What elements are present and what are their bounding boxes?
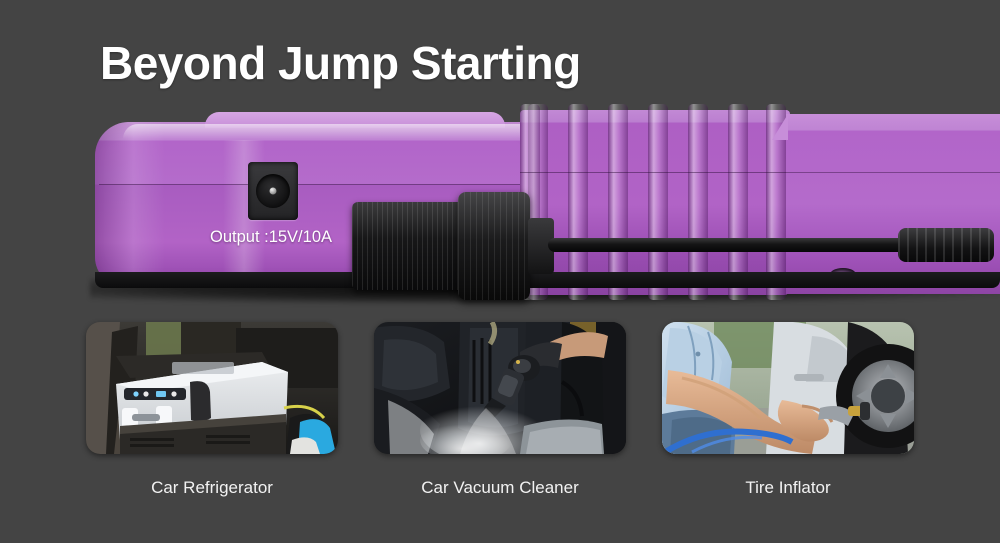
tire-inflator-photo xyxy=(662,322,914,454)
product-body-right xyxy=(786,114,1000,294)
cable-strain-relief xyxy=(898,228,994,262)
car-refrigerator-photo xyxy=(86,322,338,454)
product-rib xyxy=(608,104,628,300)
product-feature-banner: Beyond Jump Starting Ou xyxy=(0,0,1000,543)
use-case-card: Car Vacuum Cleaner xyxy=(374,322,626,498)
page-title: Beyond Jump Starting xyxy=(100,36,581,90)
dc-connector-collar xyxy=(458,192,530,300)
product-hero-image: Output :15V/10A xyxy=(0,100,1000,315)
use-case-card-list: Car Refrigerator xyxy=(0,322,1000,498)
product-rib xyxy=(568,104,588,300)
dc-output-cable xyxy=(548,238,908,252)
product-edge-highlight xyxy=(123,124,543,139)
product-rib xyxy=(648,104,668,300)
product-foot-rail xyxy=(95,272,1000,288)
product-rib xyxy=(728,104,748,300)
product-bevel xyxy=(772,114,788,140)
use-case-card: Tire Inflator xyxy=(662,322,914,498)
card-caption: Tire Inflator xyxy=(662,478,914,498)
dc-port-pin xyxy=(270,188,277,195)
product-left-cap xyxy=(95,122,165,287)
card-caption: Car Vacuum Cleaner xyxy=(374,478,626,498)
card-caption: Car Refrigerator xyxy=(86,478,338,498)
output-spec-label: Output :15V/10A xyxy=(210,228,332,247)
use-case-card: Car Refrigerator xyxy=(86,322,338,498)
product-ribbed-section xyxy=(520,110,790,295)
dc-output-port xyxy=(248,162,298,220)
dc-connector-grip xyxy=(352,202,464,290)
car-vacuum-cleaner-photo xyxy=(374,322,626,454)
product-rib xyxy=(688,104,708,300)
